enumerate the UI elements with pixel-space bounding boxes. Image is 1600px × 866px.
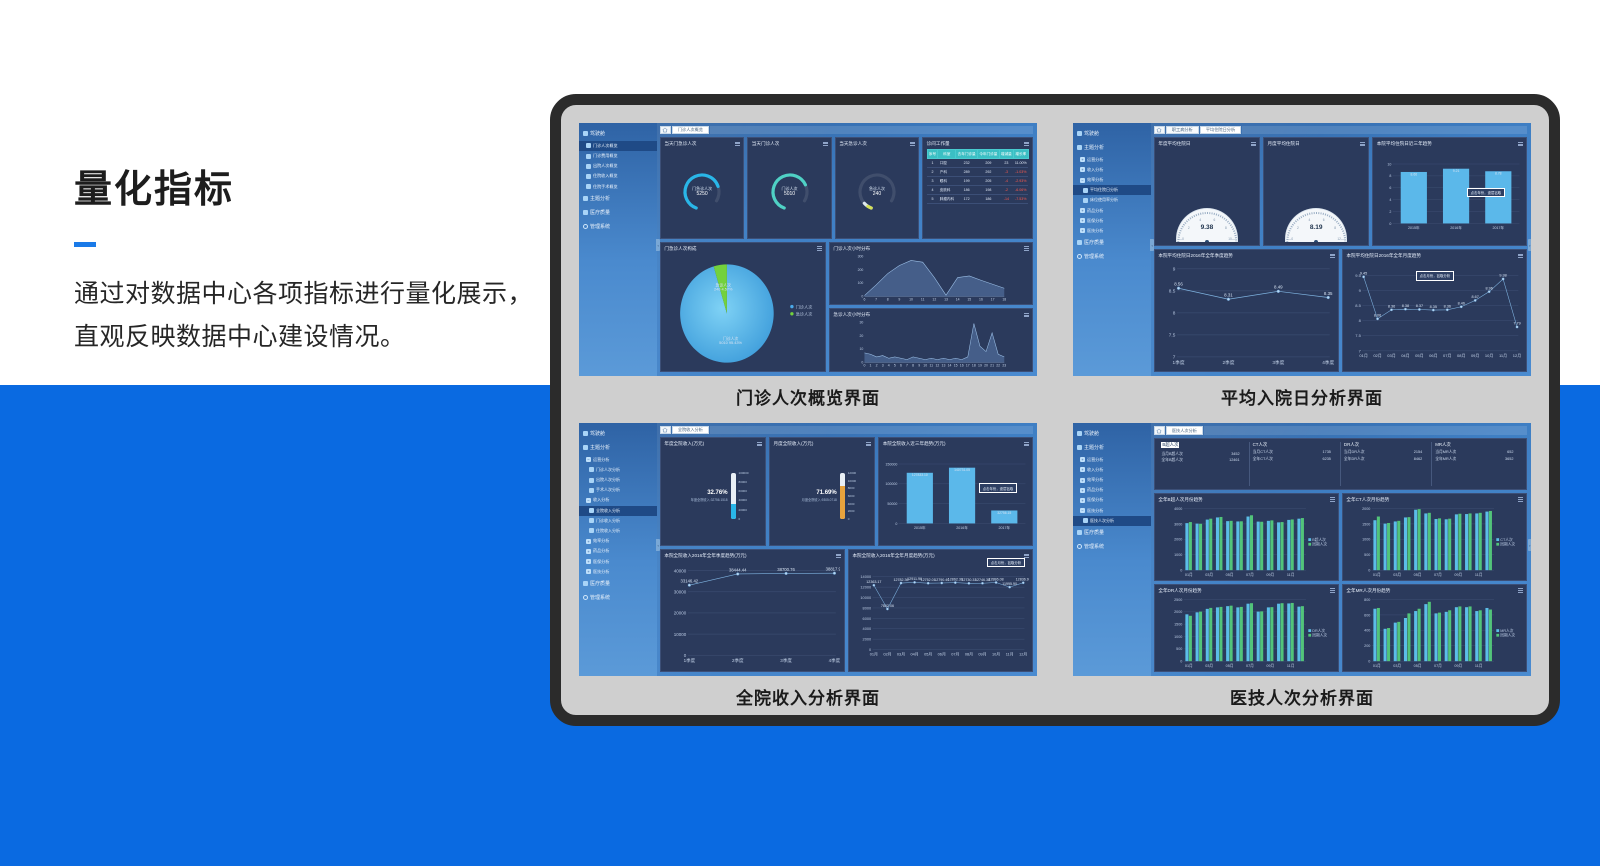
svg-text:14: 14: [948, 364, 952, 368]
sidebar-item-label: 驾驶舱: [590, 130, 605, 137]
svg-text:18: 18: [1003, 297, 1007, 301]
grouped-bar-chart: 0100020003000400001月03月05月07月09月11月B超人次同…: [1158, 505, 1334, 577]
sidebar-item-label: 药品分析: [1087, 208, 1103, 214]
home-icon[interactable]: [660, 126, 671, 134]
plus-icon: [1080, 218, 1085, 223]
svg-text:6: 6: [864, 297, 866, 301]
panel-caption: 门诊人次概览界面: [579, 376, 1037, 415]
svg-text:05月: 05月: [1226, 571, 1234, 576]
menu-icon[interactable]: [1330, 497, 1335, 502]
svg-text:7802.06: 7802.06: [881, 604, 894, 608]
menu-icon[interactable]: [757, 442, 762, 447]
svg-text:500: 500: [1365, 553, 1371, 557]
svg-text:2: 2: [1389, 210, 1391, 214]
sidebar-item[interactable]: 驾驶舱: [579, 127, 657, 141]
svg-text:1500: 1500: [1363, 522, 1371, 526]
svg-text:12886.08: 12886.08: [989, 578, 1004, 582]
svg-text:4: 4: [888, 364, 890, 368]
svg-text:2季度: 2季度: [1223, 359, 1235, 366]
svg-text:05月: 05月: [1226, 663, 1234, 668]
sidebar-item-label: 驾驶舱: [590, 430, 605, 437]
thermometer-percent: 32.76%: [691, 490, 728, 496]
svg-text:10: 10: [1387, 163, 1391, 167]
svg-text:2015年: 2015年: [914, 525, 926, 530]
svg-text:19: 19: [978, 364, 982, 368]
menu-icon[interactable]: [1024, 554, 1029, 559]
sidebar-item[interactable]: 门诊人次分析: [579, 465, 657, 475]
svg-text:3000: 3000: [1174, 522, 1182, 526]
menu-icon[interactable]: [1518, 497, 1523, 502]
sidebar-item[interactable]: 医保分析: [579, 556, 657, 566]
monthly-line-panel: 本院平均住院日2016年全年月度趋势77.588.599.59.458.068.…: [1342, 249, 1527, 372]
gauge-label: 急诊人次240: [869, 186, 885, 198]
sidebar-item[interactable]: 出院人次概览: [579, 161, 657, 171]
monthly-line-panel: 本院全院收入2016年全年月度趋势(万元)0200040006000800010…: [848, 549, 1033, 672]
hourly-column: 门诊人次小时分布01002003006789101112131415161718…: [829, 242, 1033, 372]
sidebar-item[interactable]: 药品分析: [1073, 485, 1151, 495]
kpi-card: CT人次当月CT人次1735全年CT人次6235: [1249, 442, 1340, 486]
menu-icon[interactable]: [1024, 442, 1029, 447]
menu-icon[interactable]: [1251, 142, 1256, 147]
sidebar-item[interactable]: 手术人次分析: [579, 485, 657, 495]
tab[interactable]: 门诊人次概览: [672, 126, 709, 134]
line-chart: 77.588.598.568.318.498.351季度2季度3季度4季度: [1158, 261, 1334, 368]
svg-text:17: 17: [991, 297, 995, 301]
svg-text:08月: 08月: [1457, 353, 1465, 358]
svg-text:07月: 07月: [1434, 571, 1442, 576]
panel-title: 全年DR人次月份趋势: [1158, 588, 1334, 594]
svg-text:8.36: 8.36: [1388, 305, 1395, 309]
svg-text:2000: 2000: [1174, 610, 1182, 614]
sidebar-item-label: 门诊人次分析: [596, 467, 620, 473]
gauge-ring: 门诊人次5010: [769, 171, 811, 213]
sidebar-item[interactable]: 运营分析: [579, 455, 657, 465]
chart-icon: [1077, 240, 1082, 245]
gauge-value: 5010: [782, 191, 798, 198]
table-cell: 口腔: [938, 159, 956, 168]
panel-title: 年度平均住院日: [1158, 141, 1255, 147]
menu-icon[interactable]: [817, 246, 822, 251]
svg-text:150000: 150000: [885, 463, 897, 467]
sidebar-item-label: 医技分析: [1087, 508, 1103, 514]
grouped-bar-chart: 050010001500200001月03月05月07月09月11月CT人次同期…: [1346, 505, 1522, 577]
kpi-title: DR人次: [1344, 442, 1428, 448]
table-cell: 198: [978, 186, 1000, 195]
thermometer-text: 71.69%月度全院收入:9305.0718: [802, 490, 837, 502]
dial-face: 24688.19—012—: [1285, 208, 1347, 242]
svg-text:5: 5: [894, 364, 896, 368]
svg-text:12836.91: 12836.91: [1016, 578, 1028, 582]
sidebar-item[interactable]: 门诊人次概览: [579, 141, 657, 151]
svg-text:01月: 01月: [1373, 663, 1381, 668]
sidebar-item[interactable]: 效率分析: [1073, 175, 1151, 185]
thermometer-tick: 20000: [739, 508, 747, 512]
menu-icon[interactable]: [1518, 142, 1523, 147]
sidebar-item[interactable]: 效率分析: [1073, 475, 1151, 485]
svg-text:2000: 2000: [1174, 537, 1182, 541]
svg-text:03月: 03月: [897, 652, 905, 657]
table-cell: 肿瘤内科: [938, 195, 956, 204]
thermometer-tick: 0: [848, 517, 850, 521]
svg-text:12: 12: [933, 297, 937, 301]
sidebar-item[interactable]: 平均住院日分析: [1073, 185, 1151, 195]
gear-icon: [1077, 254, 1082, 259]
svg-text:8.37: 8.37: [1416, 304, 1423, 308]
svg-text:400: 400: [1365, 629, 1371, 633]
svg-text:16: 16: [979, 297, 983, 301]
panel-title: 全年CT人次月份趋势: [1346, 497, 1522, 503]
svg-text:09月: 09月: [1455, 663, 1463, 668]
svg-text:05月: 05月: [1416, 353, 1424, 358]
modality-bar-panel: 全年CT人次月份趋势050010001500200001月03月05月07月09…: [1342, 493, 1527, 581]
table-cell: 产科: [938, 168, 956, 177]
svg-text:11月: 11月: [1499, 353, 1507, 358]
svg-text:9: 9: [1359, 288, 1362, 293]
svg-text:12363.17: 12363.17: [867, 580, 882, 584]
chart-callout: 点击月份，钻取分析: [987, 558, 1025, 568]
row-bottom: 本院全院收入2016年全年季度趋势(万元)0100002000030000400…: [660, 549, 1033, 672]
dial-scale-label: 4: [1309, 218, 1311, 222]
menu-icon[interactable]: [1330, 588, 1335, 593]
table-cell: 186: [956, 186, 978, 195]
table-cell: 199: [956, 177, 978, 186]
collapse-handle[interactable]: ‹: [656, 239, 660, 251]
sidebar-item[interactable]: 收入分析: [1073, 165, 1151, 175]
sidebar-item-label: 门诊人次概览: [593, 143, 618, 149]
sidebar-item[interactable]: 药品分析: [1073, 206, 1151, 216]
kpi-label: 全年CT人次: [1253, 457, 1273, 462]
sidebar-item-label: 收入分析: [1087, 167, 1103, 173]
thermometer-scale: 100000800006000040000200000: [739, 473, 752, 519]
svg-text:8.5: 8.5: [1356, 303, 1362, 308]
svg-text:7.79: 7.79: [1514, 322, 1521, 326]
sidebar-item[interactable]: 医疗质量: [579, 206, 657, 220]
sidebar-item[interactable]: 医疗质量: [1073, 526, 1151, 540]
sidebar-item[interactable]: 医技分析: [1073, 506, 1151, 516]
svg-text:07月: 07月: [1246, 571, 1254, 576]
svg-text:1000: 1000: [1174, 635, 1182, 639]
collapse-handle-right[interactable]: ›: [1528, 539, 1531, 551]
menu-icon[interactable]: [910, 142, 915, 147]
plus-icon: [586, 539, 591, 544]
sidebar-item[interactable]: 管理系统: [579, 591, 657, 605]
gauge: 门诊人次5010: [752, 149, 827, 235]
menu-icon[interactable]: [1024, 142, 1029, 147]
panel-caption: 全院收入分析界面: [579, 676, 1037, 715]
menu-icon[interactable]: [1518, 254, 1523, 259]
sidebar-item-label: 医技分析: [1087, 228, 1103, 234]
svg-text:09月: 09月: [979, 652, 987, 657]
svg-text:9: 9: [919, 364, 921, 368]
tab-filler: [1204, 426, 1527, 435]
panel-title: 急诊人次小时分布: [833, 312, 1028, 318]
table-cell: 眼科: [938, 177, 956, 186]
menu-icon[interactable]: [866, 442, 871, 447]
table-row: 5肿瘤内科172186-14-7.53%: [927, 195, 1028, 204]
menu-icon[interactable]: [1330, 254, 1335, 259]
table-cell: 2: [927, 168, 938, 177]
table-header-cell: 去年门诊量: [956, 150, 978, 159]
table-cell: -3: [999, 168, 1013, 177]
dial-panel: 年度平均住院日24689.38—010—: [1154, 137, 1260, 246]
sidebar-item-label: 主题分析: [1084, 144, 1104, 151]
sidebar-item[interactable]: 药品分析: [579, 546, 657, 556]
table-header-cell: 增减量: [999, 150, 1013, 159]
svg-text:7.5: 7.5: [1356, 334, 1362, 339]
svg-text:30000: 30000: [674, 590, 687, 595]
gear-icon: [1077, 544, 1082, 549]
sidebar-item[interactable]: 驾驶舱: [579, 427, 657, 441]
sidebar-item[interactable]: 医疗质量: [579, 577, 657, 591]
svg-text:1季度: 1季度: [1173, 359, 1185, 366]
sidebar-item[interactable]: 住院收入概览: [579, 171, 657, 181]
kpi-panel: B超人次当月B超人次3452全年B超人次12461CT人次当月CT人次1735全…: [1154, 438, 1527, 490]
sidebar-item[interactable]: 医技分析: [579, 567, 657, 577]
tab-bar: 全院收入分析: [660, 426, 1033, 434]
panel-title: 本院平均住院日2016年全年月度趋势: [1346, 253, 1522, 259]
sidebar-item-label: 住院收入分析: [596, 528, 620, 534]
sidebar-item[interactable]: 主题分析: [579, 192, 657, 206]
chart-callout: 点击年份，逐层钻取: [1467, 188, 1505, 198]
sidebar-item[interactable]: 主题分析: [579, 441, 657, 455]
dial-hub: [1314, 240, 1318, 242]
panel-title: 全年B超人次月份趋势: [1158, 497, 1334, 503]
list-icon: [589, 467, 594, 472]
menu-icon[interactable]: [1024, 313, 1029, 318]
thermometer-panel: 年度全院收入(万元)32.76%年度全院收入:32756.15181000008…: [660, 437, 766, 546]
list-icon: [589, 478, 594, 483]
svg-text:9: 9: [899, 297, 901, 301]
svg-text:门诊人次: 门诊人次: [796, 303, 813, 309]
tab[interactable]: 全院收入分析: [672, 426, 709, 434]
svg-text:01月: 01月: [870, 652, 878, 657]
kpi-label: 全年MR人次: [1435, 457, 1456, 462]
sidebar-item[interactable]: 主题分析: [1073, 441, 1151, 455]
dial-value: 9.38: [1177, 224, 1237, 231]
dashboard-cell: 驾驶舱门诊人次概览门诊费用概览出院人次概览住院收入概览住院手术概览主题分析医疗质…: [579, 123, 1037, 415]
svg-text:09月: 09月: [1455, 571, 1463, 576]
collapse-handle-right[interactable]: ›: [1528, 239, 1531, 251]
sidebar-item[interactable]: 收入分析: [579, 495, 657, 505]
kpi-label: 当月B超人次: [1161, 452, 1183, 457]
dashboard-cell: 驾驶舱主题分析运营分析收入分析效率分析药品分析医保分析医技分析医技人次分析医疗质…: [1073, 423, 1531, 715]
sidebar-item[interactable]: 全院收入分析: [579, 506, 657, 516]
sidebar-item[interactable]: 驾驶舱: [1073, 127, 1151, 141]
thermometer-gauge: 71.69%月度全院收入:9305.0718120001000080006000…: [774, 449, 871, 542]
sidebar-item[interactable]: 住院手术概览: [579, 182, 657, 192]
svg-text:2015年: 2015年: [1408, 225, 1420, 230]
kpi-title: B超人次: [1161, 442, 1179, 448]
sidebar-item[interactable]: 门诊费用概览: [579, 151, 657, 161]
menu-icon[interactable]: [1360, 142, 1365, 147]
sidebar-item[interactable]: 管理系统: [1073, 540, 1151, 554]
gauge-caption: 门诊人次: [782, 186, 798, 191]
menu-icon[interactable]: [1518, 588, 1523, 593]
kpi-value: 12461: [1229, 458, 1240, 463]
grid-icon: [583, 196, 588, 201]
svg-text:127833.10: 127833.10: [912, 474, 928, 478]
minus-icon: [1080, 178, 1085, 183]
collapse-handle[interactable]: ‹: [1150, 239, 1154, 251]
svg-text:06月: 06月: [1430, 353, 1438, 358]
svg-text:10: 10: [860, 348, 864, 352]
gauge-label: 门急诊人次5250: [692, 186, 712, 198]
area-chart: 01002003006789101112131415161718: [833, 254, 1028, 302]
svg-text:8: 8: [1173, 311, 1176, 316]
sidebar-item[interactable]: 医疗质量: [1073, 236, 1151, 250]
sidebar-item[interactable]: 管理系统: [579, 219, 657, 233]
sidebar-item[interactable]: 收入分析: [1073, 465, 1151, 475]
panel-title: 本院全院收入2016年全年季度趋势(万元): [664, 553, 840, 559]
row-bottom: 本院平均住院日2016年全年季度趋势77.588.598.568.318.498…: [1154, 249, 1527, 372]
svg-text:14000: 14000: [861, 574, 872, 579]
sidebar-item-label: 床位使用率分析: [1090, 197, 1118, 203]
panel-title: 月度全院收入(万元): [774, 441, 871, 447]
sidebar-item-label: 收入分析: [593, 497, 609, 503]
menu-icon[interactable]: [735, 142, 740, 147]
thermometer-tick: 4000: [848, 502, 855, 506]
menu-icon[interactable]: [1024, 246, 1029, 251]
plus-icon: [1080, 167, 1085, 172]
list-icon: [586, 164, 591, 169]
bar-chart: 050000100000150000127833.102015年140731.0…: [883, 449, 1029, 542]
svg-text:01月: 01月: [1185, 571, 1193, 576]
dashboard-screenshot: 驾驶舱主题分析运营分析收入分析效率分析平均住院日分析床位使用率分析药品分析医保分…: [1073, 123, 1531, 376]
dashboard-main: 医技人次分析B超人次当月B超人次3452全年B超人次12461CT人次当月CT人…: [1151, 423, 1531, 676]
svg-text:11月: 11月: [1475, 663, 1483, 668]
kpi-label: 当月MR人次: [1435, 450, 1456, 455]
svg-text:8: 8: [887, 297, 889, 301]
tab[interactable]: 职工病分析: [1166, 126, 1199, 134]
svg-text:11月: 11月: [1287, 571, 1295, 576]
chart-icon: [1077, 530, 1082, 535]
sidebar-item-label: 医保分析: [593, 559, 609, 565]
dial-min: —0: [1179, 237, 1184, 241]
thermometer-tick: 40000: [739, 498, 747, 502]
sidebar-item[interactable]: 效率分析: [579, 536, 657, 546]
row-top: 年度全院收入(万元)32.76%年度全院收入:32756.15181000008…: [660, 437, 1033, 546]
svg-text:同期人次: 同期人次: [1313, 541, 1328, 546]
table-cell: 289: [956, 168, 978, 177]
dashboard-icon: [1077, 131, 1082, 136]
table-row: 2产科289292-3-1.03%: [927, 168, 1028, 177]
sidebar-item-label: 医疗质量: [1084, 239, 1104, 246]
device-frame: 驾驶舱门诊人次概览门诊费用概览出院人次概览住院收入概览住院手术概览主题分析医疗质…: [550, 94, 1560, 726]
svg-text:06月: 06月: [938, 652, 946, 657]
svg-text:0: 0: [864, 364, 866, 368]
area-chart: 0102030012345678910111213141516171819202…: [833, 320, 1028, 368]
svg-text:2017年: 2017年: [1492, 225, 1504, 230]
sidebar-item[interactable]: 驾驶舱: [1073, 427, 1151, 441]
sidebar-item[interactable]: 运营分析: [1073, 155, 1151, 165]
sidebar-item[interactable]: 主题分析: [1073, 141, 1151, 155]
kpi-row-item: 当月DR人次2154: [1344, 450, 1428, 455]
tab-filler: [1242, 126, 1527, 134]
gauge-value: 5250: [692, 191, 712, 198]
svg-text:9.38: 9.38: [1500, 274, 1507, 278]
sidebar-item[interactable]: 住院收入分析: [579, 526, 657, 536]
table-cell: 皮肤科: [938, 186, 956, 195]
dial-face: 24689.38—010—: [1176, 208, 1238, 242]
plus-icon: [1080, 228, 1085, 233]
modality-bar-panel: 全年MR人次月份趋势020040060080001月03月05月07月09月11…: [1342, 584, 1527, 672]
sidebar-item-label: 出院人次分析: [596, 477, 620, 483]
menu-icon[interactable]: [836, 554, 841, 559]
svg-text:8: 8: [1359, 318, 1362, 323]
sidebar-item[interactable]: 床位使用率分析: [1073, 195, 1151, 205]
thermometer-tick: 8000: [848, 486, 855, 490]
thermometer-gauge: 32.76%年度全院收入:32756.151810000080000600004…: [664, 449, 761, 542]
sidebar-item[interactable]: 门诊收入分析: [579, 516, 657, 526]
svg-text:13: 13: [942, 364, 946, 368]
svg-text:15: 15: [954, 364, 958, 368]
sidebar-item[interactable]: 医技分析: [1073, 226, 1151, 236]
sidebar-item[interactable]: 运营分析: [1073, 455, 1151, 465]
svg-text:2000: 2000: [863, 637, 872, 642]
home-icon[interactable]: [1154, 426, 1165, 435]
menu-icon[interactable]: [823, 142, 828, 147]
plus-icon: [586, 549, 591, 554]
table-cell: 232: [956, 159, 978, 168]
thermometer-tick: 2000: [848, 509, 855, 513]
plus-icon: [1080, 157, 1085, 162]
svg-text:9.21: 9.21: [1453, 170, 1460, 174]
sidebar-item[interactable]: 医技人次分析: [1073, 516, 1151, 526]
tab[interactable]: 医技人次分析: [1166, 426, 1203, 435]
dashboard-icon: [583, 431, 588, 436]
gauge-panel: 当天急诊人次急诊人次240: [835, 137, 919, 239]
sidebar-item[interactable]: 管理系统: [1073, 250, 1151, 264]
sidebar-item-label: 住院收入概览: [593, 173, 618, 179]
tab[interactable]: 平均住院日分析: [1200, 126, 1241, 134]
plus-icon: [586, 559, 591, 564]
svg-text:02月: 02月: [884, 652, 892, 657]
dial-max: 10—: [1228, 237, 1235, 241]
svg-text:7.5: 7.5: [1169, 333, 1176, 338]
panel-title: 当天急诊人次: [839, 141, 914, 147]
table-header-cell: 增长率: [1014, 150, 1028, 159]
chart-icon: [583, 581, 588, 586]
svg-text:01月: 01月: [1373, 571, 1381, 576]
home-icon[interactable]: [1154, 126, 1165, 134]
table-cell: 172: [956, 195, 978, 204]
svg-text:17: 17: [966, 364, 970, 368]
sidebar-item[interactable]: 出院人次分析: [579, 475, 657, 485]
home-icon[interactable]: [660, 426, 671, 434]
svg-text:8: 8: [1389, 175, 1391, 179]
svg-text:0: 0: [895, 522, 897, 526]
sidebar-item[interactable]: 医保分析: [1073, 495, 1151, 505]
sidebar-item-label: 医保分析: [1087, 218, 1103, 224]
list-icon: [586, 174, 591, 179]
row-top: 年度平均住院日24689.38—010—月度平均住院日24688.19—012—…: [1154, 137, 1527, 246]
svg-text:7: 7: [1173, 355, 1176, 360]
collapse-handle[interactable]: ‹: [656, 539, 660, 551]
sidebar-item-label: 效率分析: [1087, 177, 1103, 183]
sidebar-item[interactable]: 医保分析: [1073, 216, 1151, 226]
dashboard-cell: 驾驶舱主题分析运营分析门诊人次分析出院人次分析手术人次分析收入分析全院收入分析门…: [579, 423, 1037, 715]
table-cell: 292: [978, 168, 1000, 177]
svg-text:8.67: 8.67: [1472, 295, 1479, 299]
kpi-card: DR人次当月DR人次2154全年DR人次8462: [1340, 442, 1431, 486]
table-cell: 23: [999, 159, 1013, 168]
plus-icon: [586, 569, 591, 574]
dial-hub: [1205, 240, 1209, 242]
dial-panel: 月度平均住院日24688.19—012—: [1263, 137, 1369, 246]
svg-text:7: 7: [876, 297, 878, 301]
svg-text:8.49: 8.49: [1274, 285, 1283, 290]
kpi-row-item: 全年DR人次8462: [1344, 457, 1428, 462]
